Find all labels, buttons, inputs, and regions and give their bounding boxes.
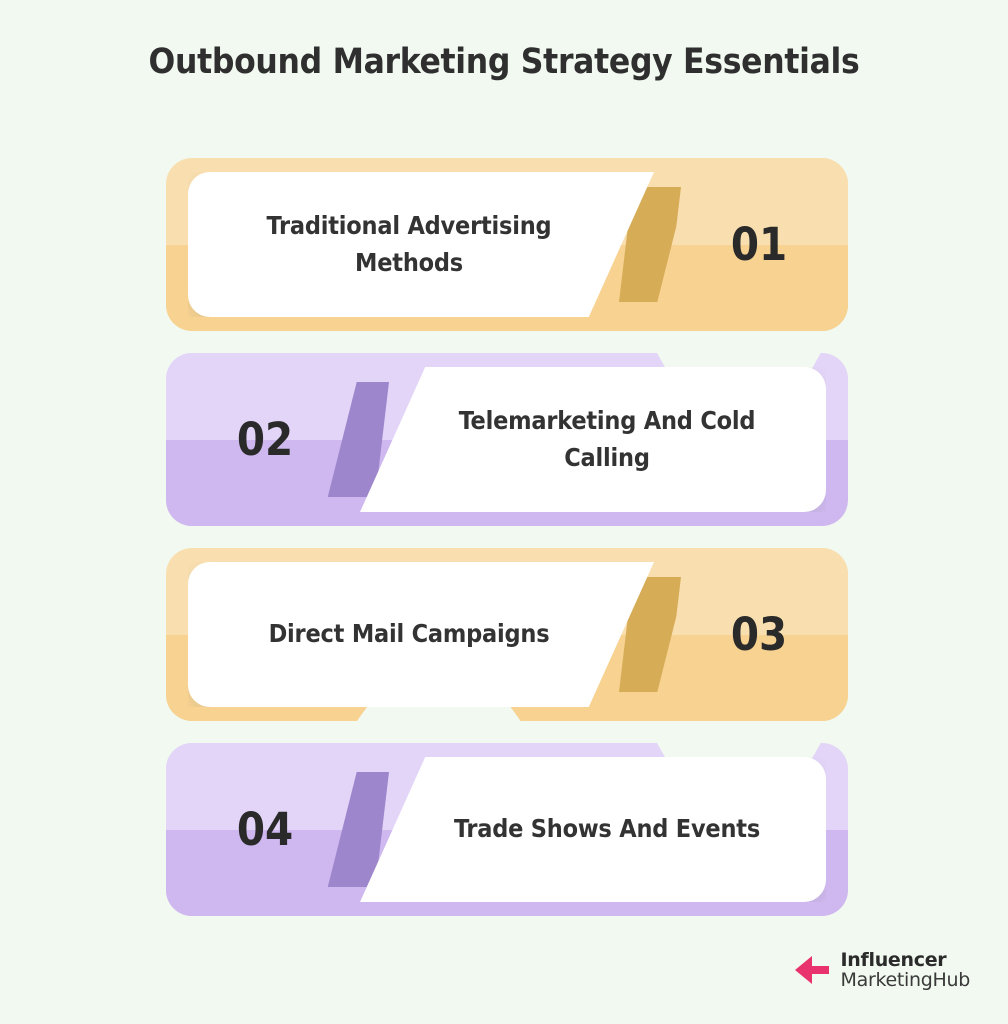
items-list: 01 Traditional Advertising Methods 02 Te… [0,158,1008,938]
brand-logo[interactable]: Influencer MarketingHub [795,950,970,990]
item-label: Trade Shows And Events [428,811,786,847]
list-item[interactable]: 01 Traditional Advertising Methods [0,158,1008,331]
brand-name-line1: Influencer [841,950,970,970]
item-number: 03 [660,548,858,721]
page-title: Outbound Marketing Strategy Essentials [0,42,1008,82]
item-card[interactable]: Trade Shows And Events [360,757,826,902]
item-card[interactable]: Direct Mail Campaigns [188,562,654,707]
left-arrow-icon [795,953,835,987]
item-number: 04 [166,743,364,916]
item-label: Direct Mail Campaigns [243,616,576,652]
item-number: 02 [166,353,364,526]
list-item[interactable]: 03 Direct Mail Campaigns [0,548,1008,721]
item-label: Telemarketing And Cold Calling [401,403,813,476]
brand-logo-text: Influencer MarketingHub [841,950,970,990]
list-item[interactable]: 02 Telemarketing And Cold Calling [0,353,1008,526]
infographic-page: Outbound Marketing Strategy Essentials 0… [0,0,1008,1024]
brand-name-line2: MarketingHub [841,970,970,990]
list-item[interactable]: 04 Trade Shows And Events [0,743,1008,916]
item-card[interactable]: Telemarketing And Cold Calling [360,367,826,512]
item-number: 01 [660,158,858,331]
item-card[interactable]: Traditional Advertising Methods [188,172,654,317]
item-label: Traditional Advertising Methods [203,208,615,281]
